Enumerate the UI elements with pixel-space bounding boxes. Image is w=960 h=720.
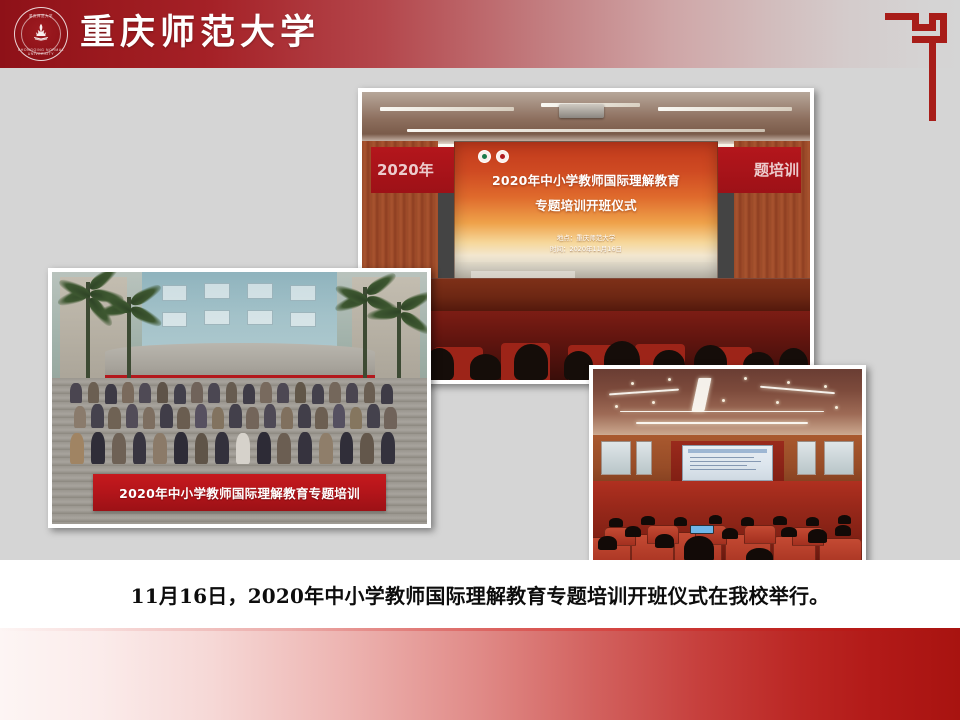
footer-accent-line (0, 628, 960, 631)
group-photo-banner: 2020年中小学教师国际理解教育专题培训 (93, 474, 386, 512)
group-photo[interactable]: 学期新目标 师生共进明德笃行 惜机遇惜时光 志存高远尚美求真 (48, 268, 431, 528)
university-seal-icon: 重庆师范大学 CHONGQING NORMAL UNIVERSITY (14, 7, 68, 61)
footer-band (0, 628, 960, 720)
screen-date: 时间：2020年11月16日 (455, 244, 717, 255)
header-brand: 重庆师范大学 CHONGQING NORMAL UNIVERSITY 重庆师范大… (14, 0, 320, 68)
audience-seating (593, 481, 862, 569)
corner-ornament-top-right (885, 9, 947, 126)
screen-title-line2: 专题培训开班仪式 (455, 195, 717, 214)
lecture-slide-screen (682, 445, 773, 481)
smartphone-screen (690, 525, 714, 534)
auditorium-wide-photo-image (593, 369, 862, 569)
screen-logo-group (478, 150, 509, 163)
screen-location: 地点：重庆师范大学 (455, 233, 717, 244)
screen-title-line1: 2020年中小学教师国际理解教育 (455, 170, 717, 189)
slide-caption: 11月16日，2020年中小学教师国际理解教育专题培训开班仪式在我校举行。 (131, 580, 830, 609)
green-circular-logo-icon (478, 150, 491, 163)
seal-emblem-icon (30, 21, 52, 43)
university-name: 重庆师范大学 (80, 15, 320, 53)
caption-area: 11月16日，2020年中小学教师国际理解教育专题培训开班仪式在我校举行。 (0, 560, 960, 628)
corner-ornament-icon (885, 9, 947, 121)
group-photo-image: 学期新目标 师生共进明德笃行 惜机遇惜时光 志存高远尚美求真 (52, 272, 427, 524)
auditorium-wide-photo[interactable] (589, 365, 866, 573)
ceiling (593, 369, 862, 441)
seal-ring-text-top: 重庆师范大学 (15, 13, 67, 18)
seal-ring-text-bottom: CHONGQING NORMAL UNIVERSITY (15, 48, 67, 56)
group-photo-banner-text: 2020年中小学教师国际理解教育专题培训 (119, 483, 360, 502)
presentation-slide: 重庆师范大学 CHONGQING NORMAL UNIVERSITY 重庆师范大… (0, 0, 960, 720)
ceiling-projector (559, 104, 604, 118)
header-band: 重庆师范大学 CHONGQING NORMAL UNIVERSITY 重庆师范大… (0, 0, 960, 68)
red-circular-logo-icon (496, 150, 509, 163)
